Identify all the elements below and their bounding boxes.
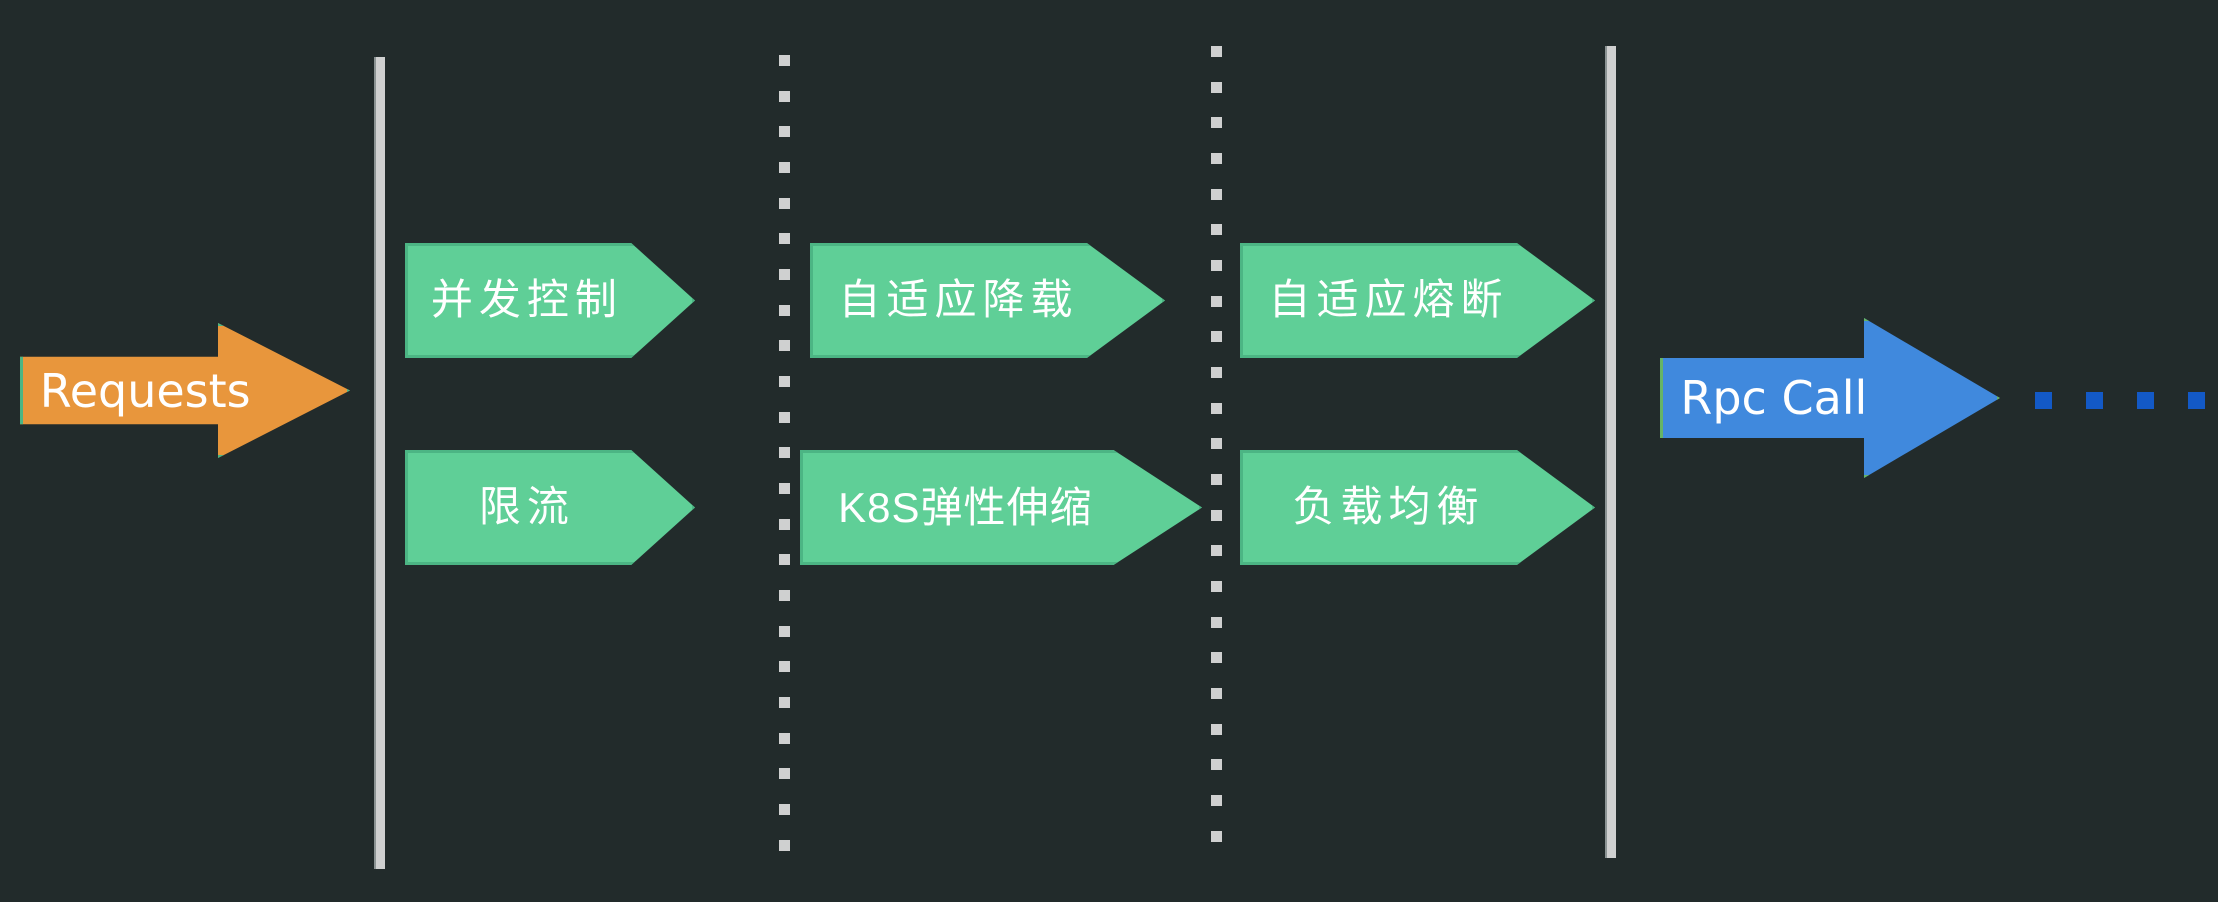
dot-marker: [1211, 474, 1222, 485]
requests-arrow-label: Requests: [20, 368, 350, 414]
dot-marker: [779, 840, 790, 851]
dot-marker: [779, 519, 790, 530]
dot-marker: [1211, 117, 1222, 128]
dot-marker: [779, 590, 790, 601]
dot-marker: [779, 340, 790, 351]
rpc-call-arrow[interactable]: Rpc Call: [1660, 318, 2000, 478]
dot-marker: [1211, 545, 1222, 556]
dot-marker: [1211, 224, 1222, 235]
dot-marker: [1211, 438, 1222, 449]
dot-marker: [779, 483, 790, 494]
stage-arrow-label: K8S弹性伸缩: [800, 487, 1202, 529]
stage-arrow-load-balancing[interactable]: 负载均衡: [1240, 450, 1595, 565]
dot-marker: [779, 697, 790, 708]
dot-marker: [779, 412, 790, 423]
dot-marker: [779, 269, 790, 280]
stage-arrow-label: 限流: [405, 487, 695, 529]
dot-marker: [1211, 831, 1222, 842]
dot-marker: [1211, 688, 1222, 699]
trailing-dot: [2188, 392, 2205, 409]
dot-marker: [1211, 46, 1222, 57]
dot-marker: [779, 376, 790, 387]
dot-marker: [779, 233, 790, 244]
dot-marker: [779, 162, 790, 173]
dot-marker: [1211, 759, 1222, 770]
dot-marker: [1211, 724, 1222, 735]
stage-arrow-concurrency-control[interactable]: 并发控制: [405, 243, 695, 358]
dot-marker: [779, 91, 790, 102]
dot-marker: [779, 305, 790, 316]
dot-marker: [779, 661, 790, 672]
dot-marker: [779, 126, 790, 137]
dot-marker: [1211, 189, 1222, 200]
boundary-line-solid-left: [374, 57, 385, 869]
dot-marker: [779, 626, 790, 637]
stage-arrow-adaptive-load-shedding[interactable]: 自适应降载: [810, 243, 1165, 358]
dot-marker: [779, 198, 790, 209]
rpc-call-arrow-label: Rpc Call: [1660, 375, 2000, 421]
dot-marker: [779, 55, 790, 66]
dot-marker: [1211, 652, 1222, 663]
dot-marker: [1211, 82, 1222, 93]
dot-marker: [779, 447, 790, 458]
trailing-dot: [2137, 392, 2154, 409]
dot-marker: [1211, 331, 1222, 342]
dot-marker: [1211, 403, 1222, 414]
diagram-canvas: Requests 并发控制 限流 自适应降载 K8S弹性伸缩 自适应熔断 负载均…: [0, 0, 2218, 902]
boundary-line-dotted-2: [1211, 46, 1222, 842]
requests-arrow[interactable]: Requests: [20, 323, 350, 458]
stage-arrow-label: 并发控制: [405, 280, 695, 322]
stage-arrow-label: 自适应熔断: [1240, 280, 1595, 322]
dot-marker: [779, 554, 790, 565]
stage-arrow-label: 自适应降载: [810, 280, 1165, 322]
trailing-dot: [2035, 392, 2052, 409]
dot-marker: [779, 768, 790, 779]
dot-marker: [1211, 296, 1222, 307]
stage-arrow-adaptive-circuit-breaker[interactable]: 自适应熔断: [1240, 243, 1595, 358]
dot-marker: [1211, 510, 1222, 521]
dot-marker: [1211, 367, 1222, 378]
boundary-line-dotted-1: [779, 55, 790, 851]
dot-marker: [1211, 581, 1222, 592]
dot-marker: [1211, 795, 1222, 806]
dot-marker: [1211, 260, 1222, 271]
trailing-dot: [2086, 392, 2103, 409]
dot-marker: [1211, 617, 1222, 628]
stage-arrow-k8s-elastic-scaling[interactable]: K8S弹性伸缩: [800, 450, 1202, 565]
dot-marker: [1211, 153, 1222, 164]
stage-arrow-rate-limiting[interactable]: 限流: [405, 450, 695, 565]
boundary-line-solid-right: [1605, 46, 1616, 858]
trailing-dots: [2035, 390, 2205, 410]
dot-marker: [779, 804, 790, 815]
stage-arrow-label: 负载均衡: [1240, 487, 1595, 529]
dot-marker: [779, 733, 790, 744]
